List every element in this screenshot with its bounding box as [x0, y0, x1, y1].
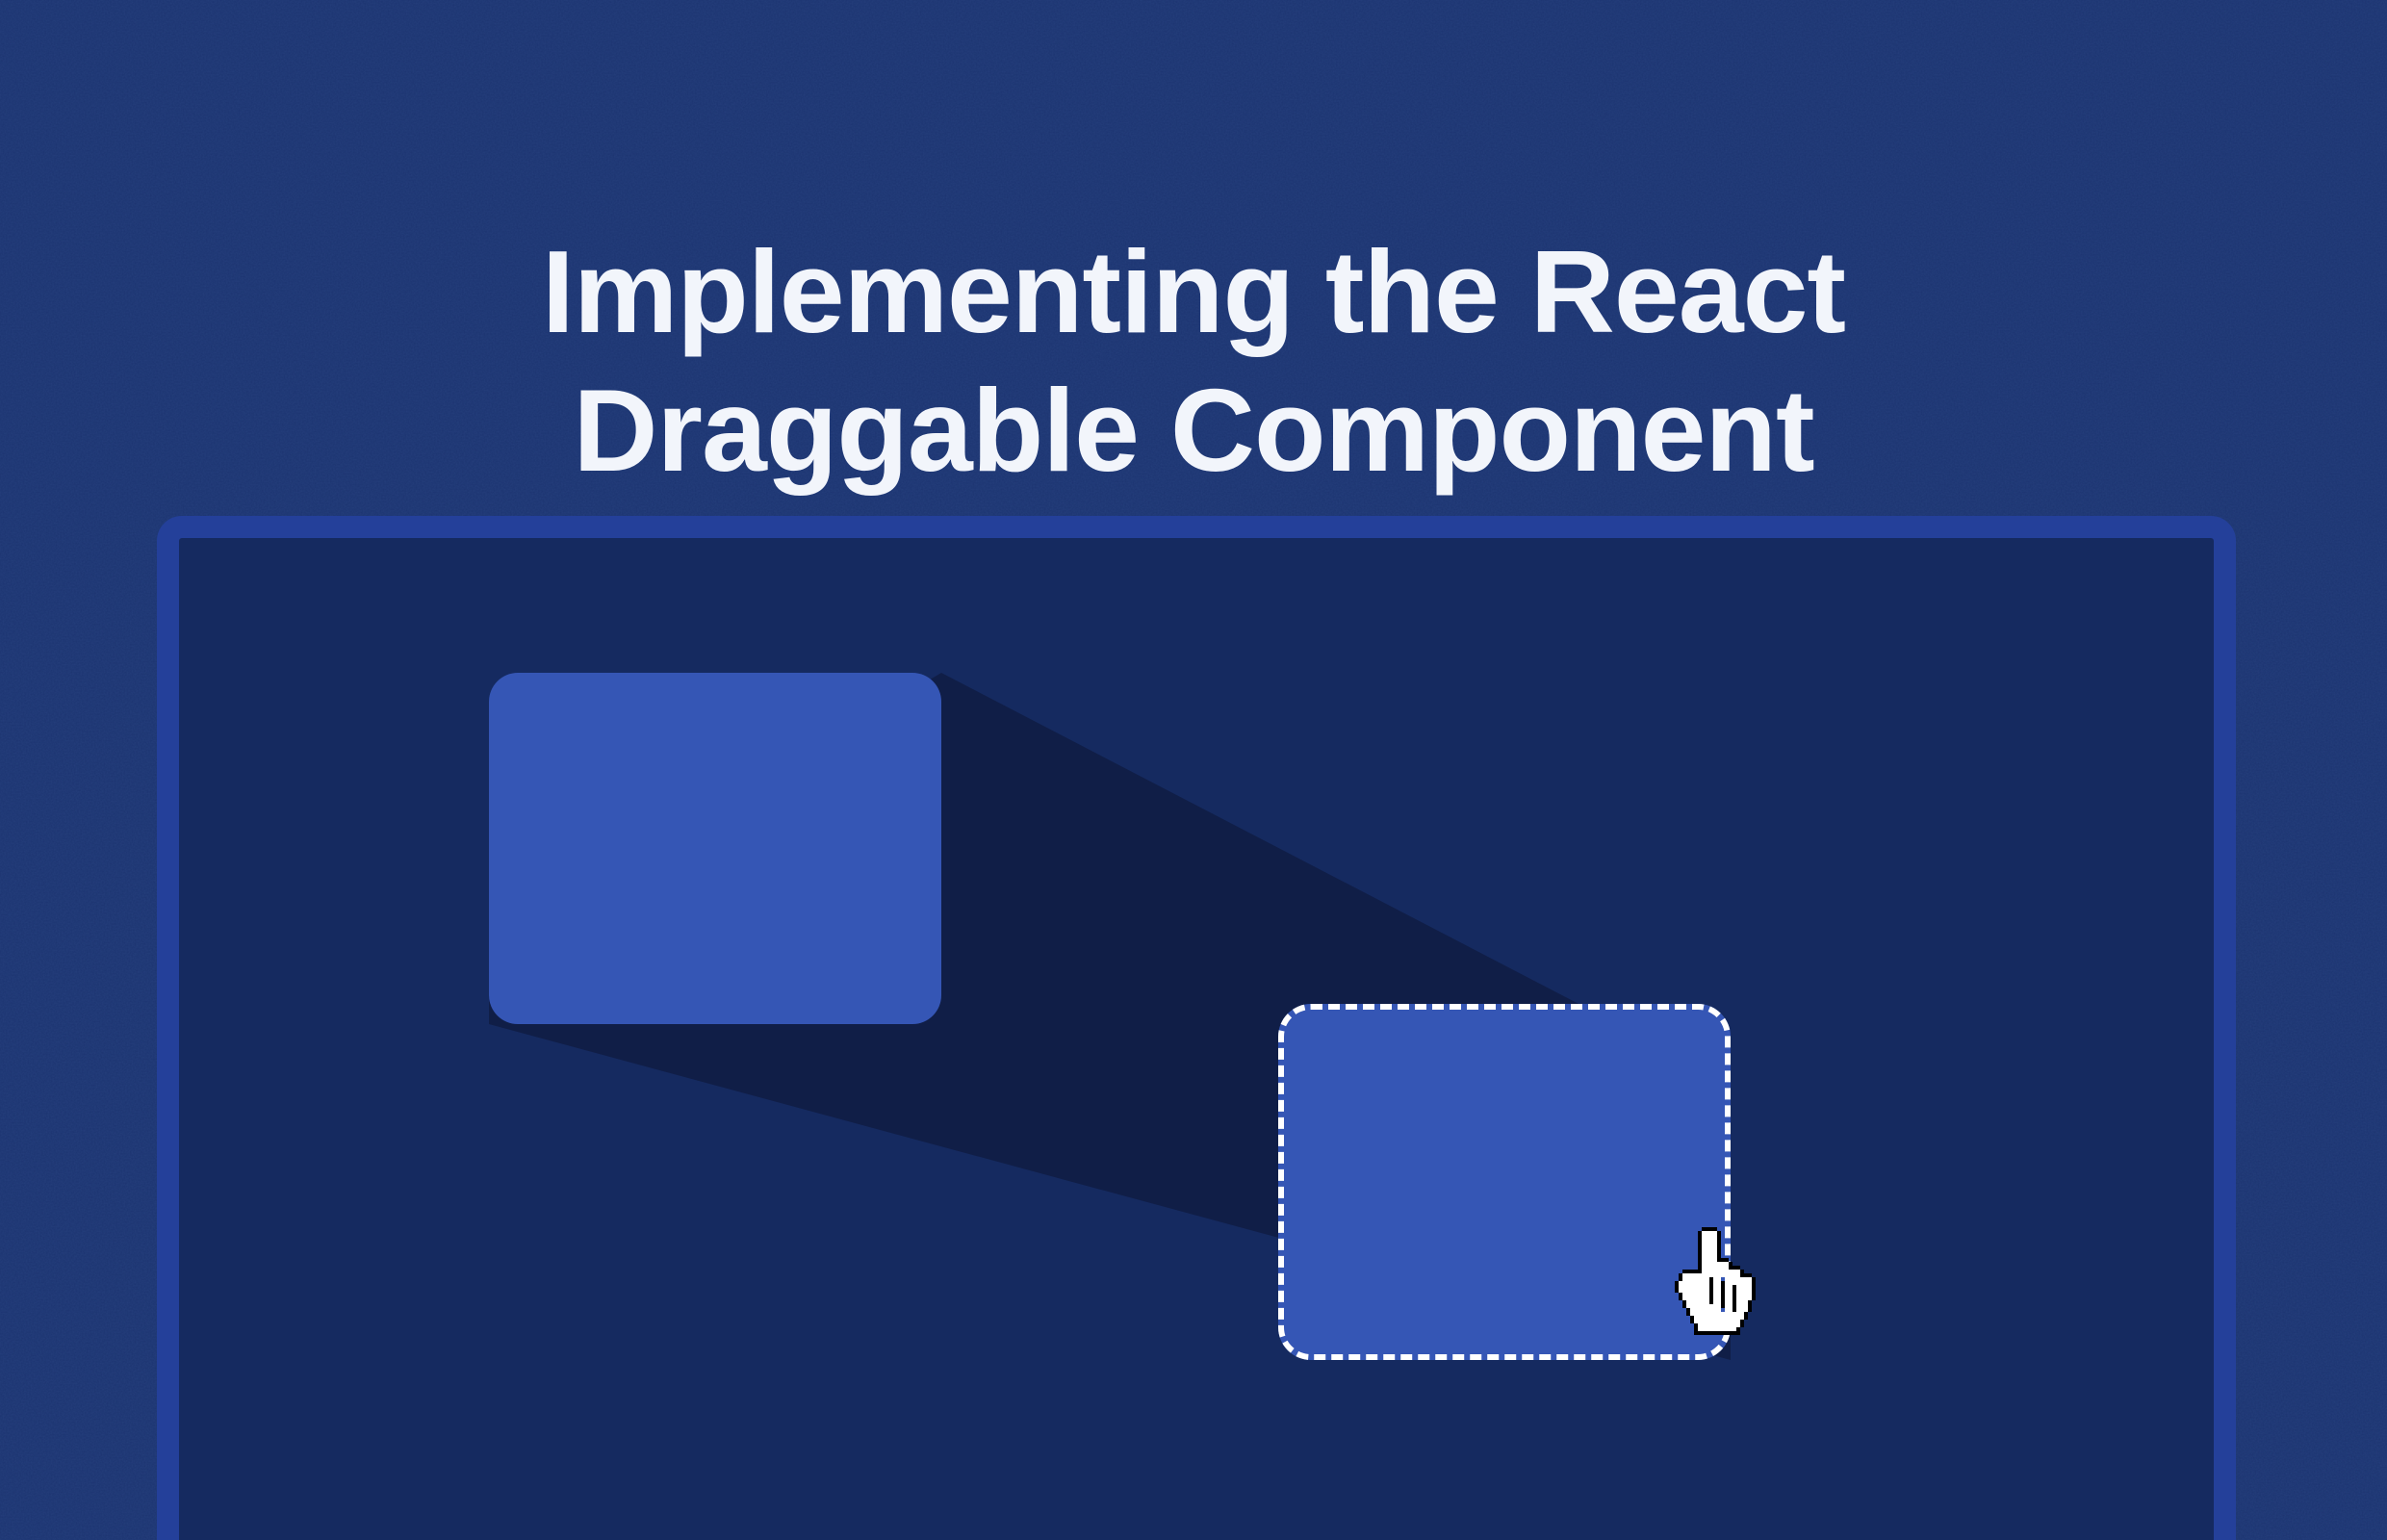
dragged-box[interactable]	[1278, 1004, 1731, 1360]
dragged-box-dashed-outline	[1278, 1004, 1731, 1360]
drag-area-surface[interactable]	[179, 538, 2214, 1540]
drag-area-container[interactable]	[157, 516, 2236, 1540]
source-box[interactable]	[489, 673, 941, 1024]
page-title: Implementing the React Draggable Compone…	[0, 223, 2387, 500]
page-title-line-2: Draggable Component	[0, 362, 2387, 500]
slide-canvas: Implementing the React Draggable Compone…	[0, 0, 2387, 1540]
drag-trail-shadow	[179, 538, 2214, 1540]
page-title-line-1: Implementing the React	[0, 223, 2387, 362]
